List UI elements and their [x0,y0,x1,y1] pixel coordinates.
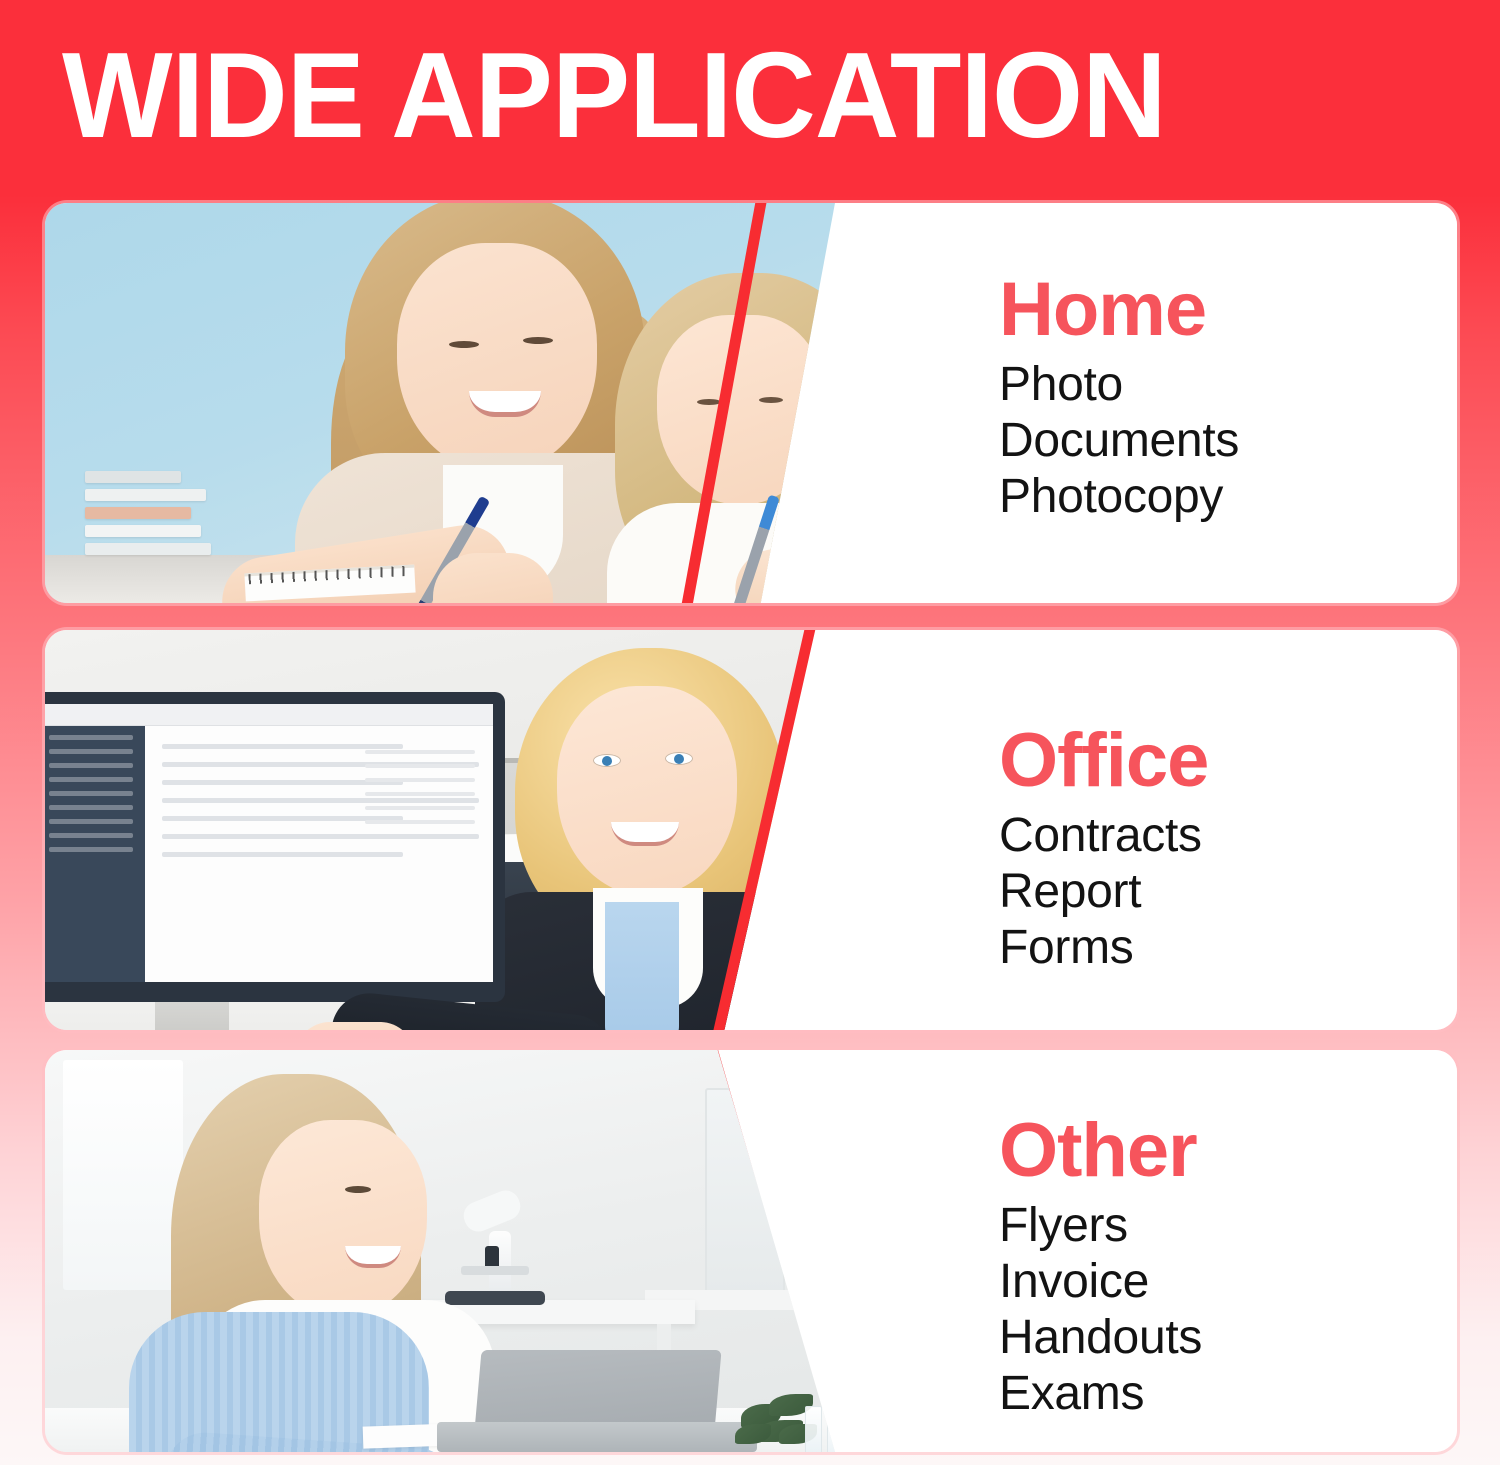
woman-face [557,686,737,896]
lab-cabinet [705,1088,785,1298]
list-item: Handouts [999,1310,1202,1366]
card-title-office: Office [999,720,1208,802]
header-band: WIDE APPLICATION [0,0,1500,196]
list-item: Photocopy [999,469,1239,525]
list-item: Invoice [999,1254,1202,1310]
list-item: Forms [999,920,1208,976]
card-title-other: Other [999,1110,1202,1192]
mother-eye-right [523,337,553,344]
screen-secondary-column [365,750,475,834]
application-card-home: Home Photo Documents Photocopy [45,203,1457,603]
infographic-page: WIDE APPLICATION [0,0,1500,1465]
scene-home [45,203,835,603]
card-photo-home [45,203,835,603]
card-item-list-other: Flyers Invoice Handouts Exams [999,1198,1202,1422]
woman-eye-left [593,754,621,767]
laptop-base [437,1422,757,1452]
application-card-other: Other Flyers Invoice Handouts Exams [45,1050,1457,1452]
scene-lab [45,1050,835,1452]
monitor-stand [155,1002,229,1030]
card-item-list-office: Contracts Report Forms [999,808,1208,976]
girl-eye-right [759,397,783,403]
list-item: Photo [999,357,1239,413]
list-item: Report [999,864,1208,920]
card-text-panel-office: Office Contracts Report Forms [835,630,1457,1030]
card-photo-other [45,1050,835,1452]
scene-office [45,630,835,1030]
microscope-icon [445,1200,545,1305]
card-item-list-home: Photo Documents Photocopy [999,357,1239,525]
window [63,1060,183,1290]
woman-eye-right [665,752,693,765]
application-card-office: Office Contracts Report Forms [45,630,1457,1030]
list-item: Exams [999,1366,1202,1422]
girl-face [657,315,825,505]
monitor-screen [45,704,493,982]
girl-top [607,503,835,603]
woman-face [259,1120,427,1318]
card-photo-office [45,630,835,1030]
test-tubes-icon [805,1384,835,1452]
screen-sidebar [45,726,145,982]
screen-toolbar [45,704,493,726]
list-item: Flyers [999,1198,1202,1254]
card-title-home: Home [999,269,1239,351]
list-item: Documents [999,413,1239,469]
list-item: Contracts [999,808,1208,864]
card-text-panel-home: Home Photo Documents Photocopy [835,203,1457,603]
woman-scarf [605,902,679,1030]
mother-eye-left [449,341,479,348]
card-text-panel-other: Other Flyers Invoice Handouts Exams [835,1050,1457,1452]
woman-eye [345,1186,371,1193]
page-title: WIDE APPLICATION [62,34,1166,156]
mother-face [397,243,597,473]
book-stack-icon [85,447,211,555]
